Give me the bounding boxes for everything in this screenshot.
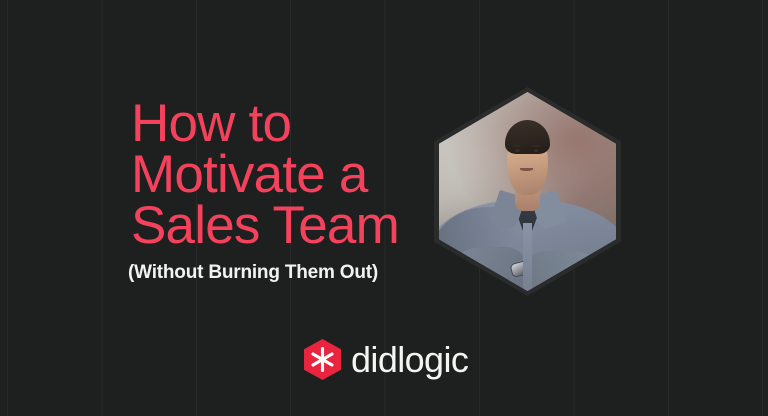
hexagon-asterisk-icon	[304, 339, 341, 380]
portrait-eyebrow-left	[513, 145, 521, 147]
subtitle: (Without Burning Them Out)	[128, 261, 378, 285]
portrait-mouth	[520, 168, 532, 171]
portrait-photo	[439, 92, 616, 291]
brand-logo: didlogic	[304, 339, 468, 380]
brand-wordmark: didlogic	[351, 342, 468, 378]
promo-slide: How to Motivate a Sales Team (Without Bu…	[0, 0, 768, 416]
headline: How to Motivate a Sales Team	[131, 98, 461, 251]
headline-line-3: Sales Team	[131, 200, 461, 251]
portrait-eye-left	[515, 149, 520, 152]
headline-line-2: Motivate a	[131, 149, 461, 200]
portrait-hexagon	[439, 92, 616, 291]
headline-line-1: How to	[131, 98, 461, 149]
portrait-shirt-placket	[523, 223, 532, 291]
portrait-eyebrow-right	[532, 145, 540, 147]
portrait-hair	[505, 120, 549, 154]
